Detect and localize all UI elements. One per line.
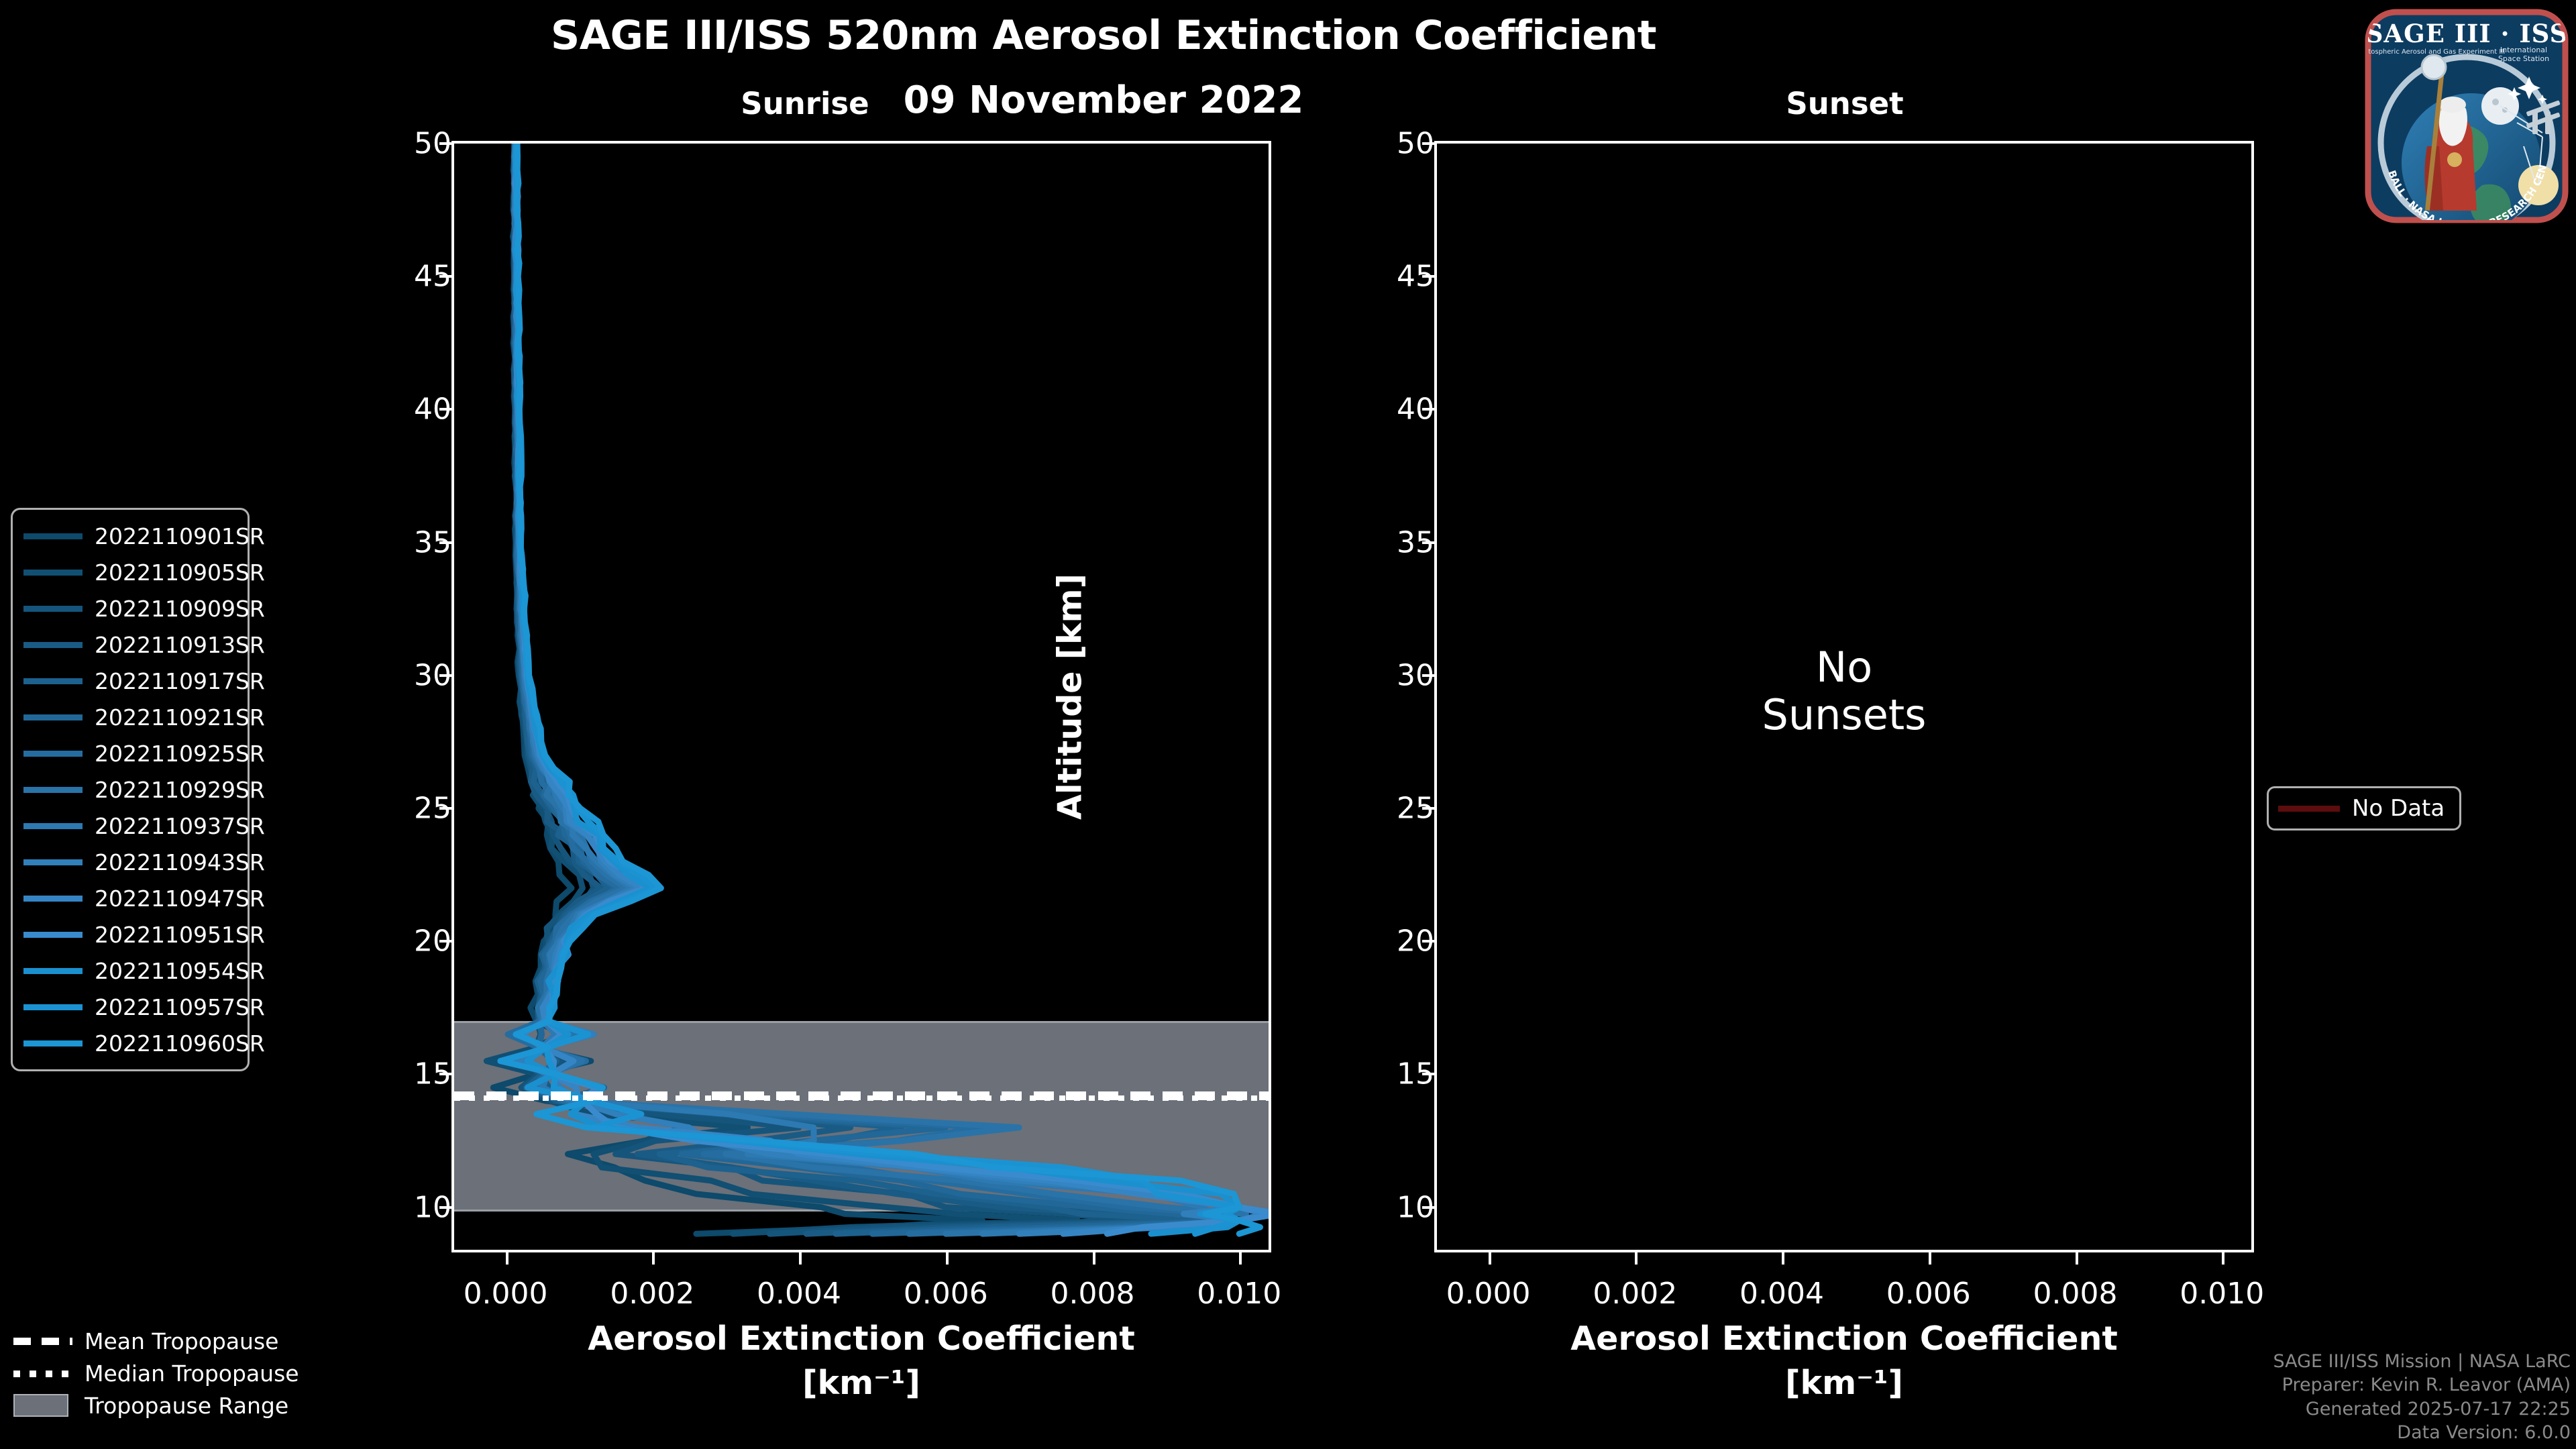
x-tick-mark (2076, 1252, 2078, 1265)
no-data-legend-label: No Data (2352, 795, 2445, 822)
y-tick-mark (1422, 1073, 1434, 1075)
x-tick-label: 0.004 (1708, 1277, 1856, 1311)
profile-line (513, 144, 1136, 1234)
footer-generated: Generated 2025-07-17 22:25 (2273, 1397, 2571, 1421)
tropopause-legend-label: Mean Tropopause (85, 1328, 278, 1354)
y-tick-mark (439, 541, 451, 544)
legend-item[interactable]: 2022110957SR (13, 989, 248, 1025)
tropopause-legend-swatch (13, 1366, 72, 1381)
sunrise-panel-label: Sunrise (671, 86, 939, 121)
legend-line-swatch (23, 678, 83, 684)
y-tick-label: 25 (337, 791, 451, 825)
tropopause-range-swatch (13, 1394, 68, 1417)
legend-item[interactable]: 2022110909SR (13, 590, 248, 627)
right-panel-x-axis: 0.0000.0020.0040.0060.0080.010 (1434, 1252, 2254, 1320)
y-tick-label: 40 (1320, 392, 1434, 427)
svg-text:Stratospheric Aerosol and Gas: Stratospheric Aerosol and Gas Experiment… (2363, 48, 2505, 56)
legend-item[interactable]: 2022110925SR (13, 735, 248, 771)
profile-line (515, 144, 1239, 1234)
y-tick-label: 40 (337, 392, 451, 427)
legend-line-swatch (23, 751, 83, 757)
profile-line (515, 144, 1246, 1234)
right-x-axis-title-line1: Aerosol Extinction Coefficient (1434, 1320, 2254, 1358)
legend-line-swatch (23, 714, 83, 720)
y-tick-label: 20 (337, 924, 451, 959)
sunset-panel-label: Sunset (1711, 86, 1979, 121)
legend-item[interactable]: 2022110960SR (13, 1025, 248, 1061)
x-tick-label: 0.010 (1165, 1277, 1313, 1311)
y-tick-mark (439, 408, 451, 411)
no-data-legend[interactable]: No Data (2267, 786, 2461, 830)
profile-line (515, 144, 1269, 1234)
legend-line-swatch (23, 968, 83, 974)
profile-line (515, 144, 1225, 1234)
profile-line (500, 144, 1260, 1234)
x-tick-label: 0.006 (1855, 1277, 2002, 1311)
y-tick-mark (439, 275, 451, 278)
legend-item[interactable]: 2022110951SR (13, 916, 248, 953)
sage-iii-iss-mission-patch-logo: SAGE III · ISS Stratospheric Aerosol and… (2363, 5, 2571, 227)
no-sunsets-message: No Sunsets (1434, 644, 2254, 739)
x-tick-label: 0.006 (872, 1277, 1020, 1311)
y-tick-label: 50 (1320, 127, 1434, 161)
x-tick-mark (506, 1252, 508, 1265)
no-data-line-swatch (2278, 806, 2340, 812)
y-tick-mark (1422, 807, 1434, 810)
legend-line-swatch (23, 570, 83, 576)
y-tick-mark (1422, 541, 1434, 544)
x-tick-label: 0.010 (2148, 1277, 2296, 1311)
right-panel-y-axis: 101520253035404550 (1300, 141, 1434, 1252)
tropopause-legend-swatch (13, 1398, 72, 1413)
x-tick-label: 0.002 (578, 1277, 726, 1311)
legend-item-label: 2022110943SR (95, 849, 265, 875)
footer-preparer: Preparer: Kevin R. Leavor (AMA) (2273, 1373, 2571, 1397)
y-tick-label: 10 (337, 1190, 451, 1224)
y-tick-label: 10 (1320, 1190, 1434, 1224)
no-sunsets-line1: No (1434, 644, 2254, 692)
left-x-axis-title-line1: Aerosol Extinction Coefficient (451, 1320, 1271, 1358)
profile-line (515, 144, 1240, 1234)
legend-item-label: 2022110951SR (95, 922, 265, 948)
legend-item-label: 2022110901SR (95, 523, 265, 549)
legend-item[interactable]: 2022110921SR (13, 699, 248, 735)
profile-line (508, 144, 1239, 1234)
x-tick-mark (1635, 1252, 1638, 1265)
footer-mission: SAGE III/ISS Mission | NASA LaRC (2273, 1350, 2571, 1374)
y-tick-label: 45 (337, 260, 451, 294)
legend-line-swatch (23, 1004, 83, 1010)
legend-item[interactable]: 2022110901SR (13, 518, 248, 554)
y-tick-label: 15 (337, 1057, 451, 1091)
tropopause-legend-label: Median Tropopause (85, 1360, 299, 1387)
legend-item-label: 2022110937SR (95, 813, 265, 839)
x-tick-mark (1239, 1252, 1242, 1265)
y-tick-label: 30 (337, 658, 451, 692)
y-tick-label: 50 (337, 127, 451, 161)
legend-item[interactable]: 2022110913SR (13, 627, 248, 663)
event-legend[interactable]: 2022110901SR2022110905SR2022110909SR2022… (11, 508, 250, 1071)
x-tick-mark (2222, 1252, 2224, 1265)
svg-text:International: International (2500, 46, 2547, 54)
legend-line-swatch (23, 859, 83, 865)
right-y-axis-title: Altitude [km] (1051, 536, 1089, 858)
legend-item-label: 2022110925SR (95, 741, 265, 767)
x-tick-label: 0.000 (1415, 1277, 1562, 1311)
no-sunsets-line2: Sunsets (1434, 692, 2254, 739)
sunrise-profile-curves (454, 144, 1269, 1250)
y-tick-label: 25 (1320, 791, 1434, 825)
left-x-axis-title-line2: [km⁻¹] (451, 1364, 1271, 1402)
y-tick-mark (439, 1073, 451, 1075)
x-tick-mark (652, 1252, 655, 1265)
legend-item[interactable]: 2022110905SR (13, 554, 248, 590)
legend-line-swatch (23, 823, 83, 829)
footer-data-version: Data Version: 6.0.0 (2273, 1421, 2571, 1445)
x-tick-label: 0.002 (1561, 1277, 1709, 1311)
tropopause-legend-item: Median Tropopause (7, 1357, 288, 1389)
profile-line (516, 144, 1239, 1234)
x-tick-label: 0.000 (432, 1277, 580, 1311)
x-tick-label: 0.004 (725, 1277, 873, 1311)
legend-item[interactable]: 2022110954SR (13, 953, 248, 989)
x-tick-mark (1929, 1252, 1931, 1265)
x-tick-mark (946, 1252, 949, 1265)
footer-credits: SAGE III/ISS Mission | NASA LaRC Prepare… (2273, 1350, 2571, 1446)
tropopause-legend: Mean TropopauseMedian TropopauseTropopau… (7, 1325, 288, 1421)
legend-item[interactable]: 2022110929SR (13, 771, 248, 808)
y-tick-label: 35 (337, 525, 451, 559)
tropopause-legend-item: Mean Tropopause (7, 1325, 288, 1357)
y-tick-label: 45 (1320, 260, 1434, 294)
y-tick-label: 15 (1320, 1057, 1434, 1091)
y-tick-mark (439, 940, 451, 943)
legend-item-label: 2022110921SR (95, 704, 265, 731)
y-tick-label: 30 (1320, 658, 1434, 692)
legend-line-swatch (23, 606, 83, 612)
tropopause-line-swatch (13, 1371, 72, 1377)
legend-item-label: 2022110960SR (95, 1030, 265, 1057)
tropopause-legend-item: Tropopause Range (7, 1389, 288, 1421)
legend-item-label: 2022110929SR (95, 777, 265, 803)
legend-line-swatch (23, 896, 83, 902)
profile-line (515, 144, 1263, 1234)
y-tick-mark (1422, 408, 1434, 411)
tropopause-line-swatch (13, 1338, 72, 1345)
svg-text:Space Station: Space Station (2498, 54, 2549, 63)
profile-line (515, 144, 1239, 1234)
legend-item-label: 2022110909SR (95, 596, 265, 622)
profile-line (516, 144, 1240, 1234)
x-tick-mark (1093, 1252, 1095, 1265)
legend-line-swatch (23, 932, 83, 938)
y-tick-mark (1422, 940, 1434, 943)
tropopause-legend-swatch (13, 1334, 72, 1348)
y-tick-mark (1422, 142, 1434, 145)
legend-item[interactable]: 2022110947SR (13, 880, 248, 916)
legend-line-swatch (23, 1040, 83, 1046)
tropopause-legend-label: Tropopause Range (85, 1393, 288, 1419)
legend-item-label: 2022110913SR (95, 632, 265, 658)
x-tick-label: 0.008 (2002, 1277, 2149, 1311)
legend-item-label: 2022110947SR (95, 885, 265, 912)
svg-text:SAGE III · ISS: SAGE III · ISS (2365, 19, 2569, 48)
profile-line (486, 144, 1077, 1234)
median-tropopause-line (454, 1095, 1269, 1101)
y-tick-mark (439, 142, 451, 145)
x-tick-mark (799, 1252, 802, 1265)
sunrise-plot-panel (451, 141, 1271, 1252)
y-tick-mark (1422, 674, 1434, 677)
legend-item-label: 2022110954SR (95, 958, 265, 984)
y-tick-mark (1422, 1206, 1434, 1209)
legend-line-swatch (23, 642, 83, 648)
left-panel-y-axis: 101520253035404550 (317, 141, 451, 1252)
x-tick-label: 0.008 (1019, 1277, 1167, 1311)
page-title: SAGE III/ISS 520nm Aerosol Extinction Co… (0, 12, 2207, 59)
right-x-axis-title-line2: [km⁻¹] (1434, 1364, 2254, 1402)
legend-item[interactable]: 2022110937SR (13, 808, 248, 844)
y-tick-mark (439, 674, 451, 677)
legend-line-swatch (23, 787, 83, 793)
y-tick-label: 35 (1320, 525, 1434, 559)
y-tick-mark (439, 807, 451, 810)
x-tick-mark (1782, 1252, 1784, 1265)
legend-item-label: 2022110905SR (95, 559, 265, 586)
legend-item[interactable]: 2022110917SR (13, 663, 248, 699)
x-tick-mark (1489, 1252, 1491, 1265)
left-panel-x-axis: 0.0000.0020.0040.0060.0080.010 (451, 1252, 1271, 1320)
y-tick-label: 20 (1320, 924, 1434, 959)
y-tick-mark (1422, 275, 1434, 278)
legend-item-label: 2022110917SR (95, 668, 265, 694)
legend-item[interactable]: 2022110943SR (13, 844, 248, 880)
y-tick-mark (439, 1206, 451, 1209)
legend-item-label: 2022110957SR (95, 994, 265, 1020)
legend-line-swatch (23, 533, 83, 539)
